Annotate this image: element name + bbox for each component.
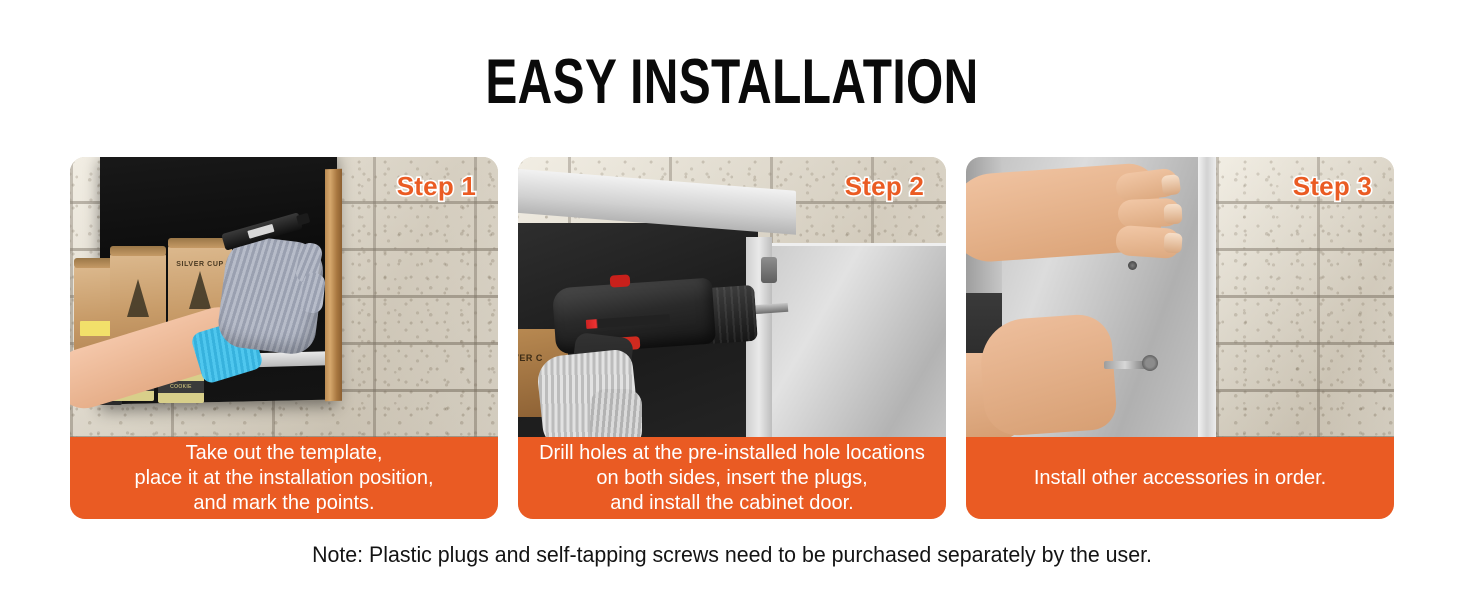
step-caption-1: Take out the template, place it at the i…: [70, 437, 498, 519]
page-title: EASY INSTALLATION: [176, 49, 1289, 115]
marker-stripe: [247, 224, 274, 239]
fingernail: [1164, 204, 1183, 225]
cabinet-door-edge: [1198, 157, 1216, 437]
step-1-photo: SILVER CUP WONDERLAND COOKIE COOKIE: [70, 157, 498, 437]
cardboard-template: [325, 169, 342, 401]
footer-note: Note: Plastic plugs and self-tapping scr…: [22, 541, 1442, 569]
tree-graphic-icon: [189, 271, 211, 309]
step-caption-2: Drill holes at the pre-installed hole lo…: [518, 437, 946, 519]
step-badge-1: Step 1: [397, 171, 476, 201]
step-card-2: SILVER C Step 2 Drill holes at the pre-i…: [518, 157, 946, 519]
step-3-photo: Step 3: [966, 157, 1394, 437]
drill-direction-switch: [610, 274, 631, 287]
bag-top: [110, 246, 166, 256]
screw-shaft: [1104, 361, 1146, 369]
glove-fingers: [590, 389, 642, 437]
installation-infographic: EASY INSTALLATION SILVER CUP: [0, 0, 1464, 600]
step-2-photo: SILVER C Step 2: [518, 157, 946, 437]
door-hinge: [761, 257, 777, 283]
fingernail: [1163, 232, 1182, 253]
upper-screw: [1128, 261, 1137, 270]
box-brand-text: SILVER C: [518, 353, 543, 363]
lower-hand: [978, 313, 1118, 437]
bag-brand-text: SILVER CUP: [168, 261, 232, 268]
fingernail: [1161, 174, 1181, 196]
tree-graphic-icon: [127, 279, 149, 317]
step-badge-2: Step 2: [845, 171, 924, 201]
step-badge-3: Step 3: [1293, 171, 1372, 201]
screw-head: [1142, 355, 1158, 371]
cabinet-door-right: [772, 243, 946, 437]
step-caption-3: Install other accessories in order.: [966, 437, 1394, 519]
step-card-3: Step 3 Install other accessories in orde…: [966, 157, 1394, 519]
step-card-1: SILVER CUP WONDERLAND COOKIE COOKIE: [70, 157, 498, 519]
steps-row: SILVER CUP WONDERLAND COOKIE COOKIE: [0, 157, 1464, 519]
